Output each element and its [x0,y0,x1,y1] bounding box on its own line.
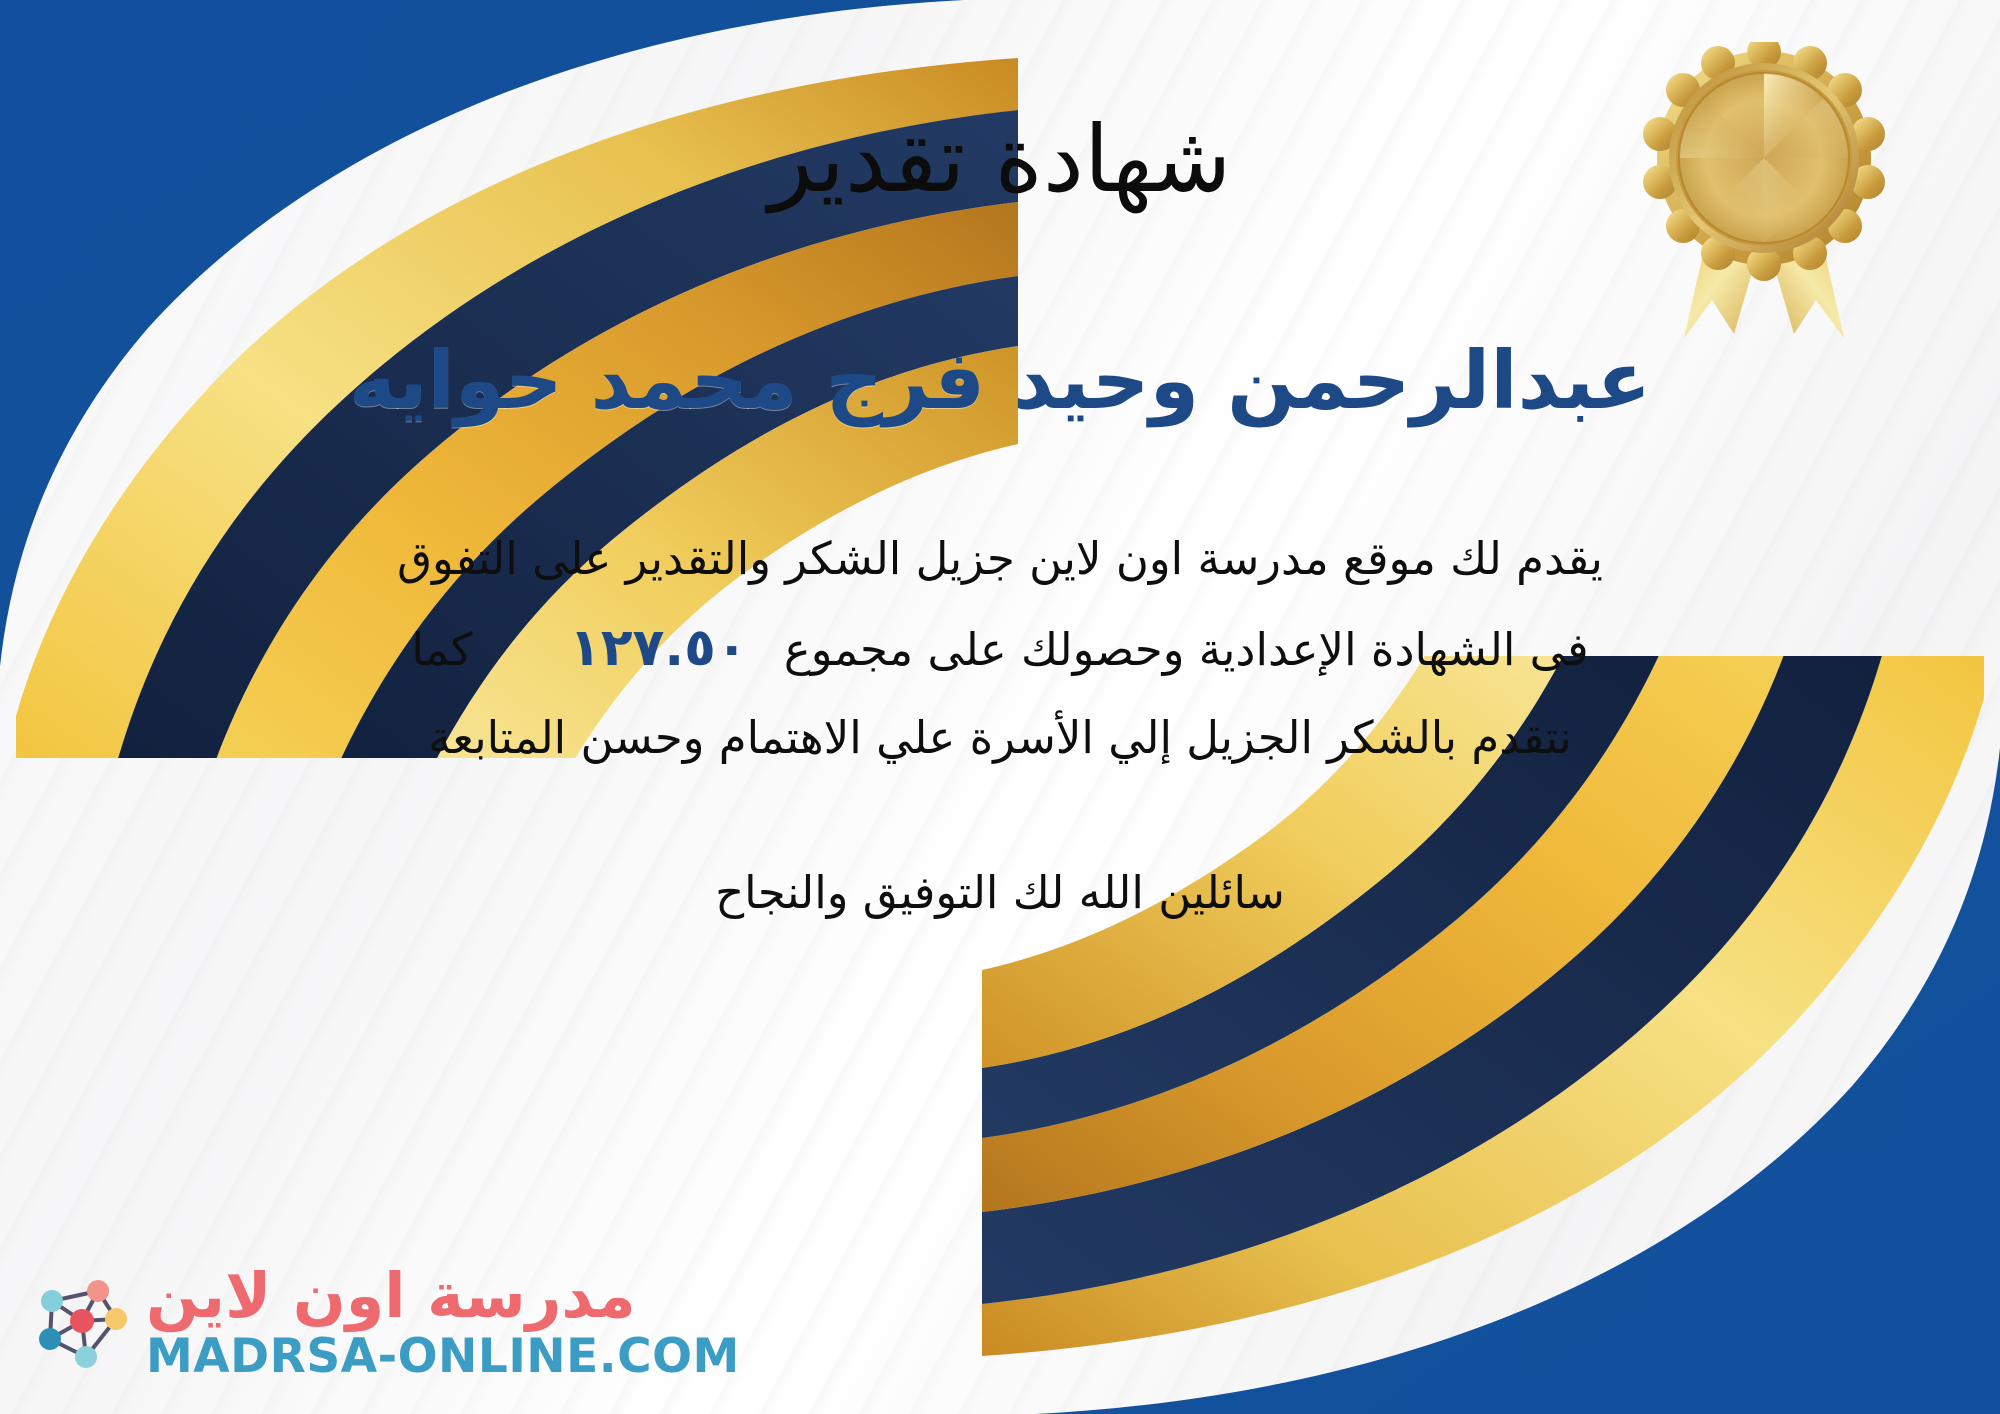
brand-logo[interactable]: مدرسة اون لاين MADRSA-ONLINE.COM [28,1265,740,1380]
brand-website: MADRSA-ONLINE.COM [146,1333,740,1380]
recipient-name: عبدالرحمن وحيد فرج محمد حوايه [0,337,2000,425]
body-line-1: يقدم لك موقع مدرسة اون لاين جزيل الشكر و… [120,517,1880,600]
body-line-2-suffix: كما [411,623,472,676]
body-line-2: فى الشهادة الإعدادية وحصولك على مجموع ١٢… [120,600,1880,696]
brand-text: مدرسة اون لاين MADRSA-ONLINE.COM [146,1265,740,1380]
body-line-2-prefix: فى الشهادة الإعدادية وحصولك على مجموع [784,623,1589,676]
network-nodes-icon [28,1271,132,1375]
brand-arabic-name: مدرسة اون لاين [146,1265,636,1327]
body-line-3: نتقدم بالشكر الجزيل إلي الأسرة علي الاهت… [120,696,1880,779]
closing-line: سائلين الله لك التوفيق والنجاح [120,857,1880,929]
total-score-value: ١٢٧.٥٠ [547,618,769,678]
certificate-canvas: شهادة تقدير عبدالرحمن وحيد فرج محمد حواي… [0,0,2000,1414]
certificate-body: يقدم لك موقع مدرسة اون لاين جزيل الشكر و… [120,517,1880,780]
certificate-content: شهادة تقدير عبدالرحمن وحيد فرج محمد حواي… [0,0,2000,1414]
certificate-title: شهادة تقدير [0,112,2000,209]
